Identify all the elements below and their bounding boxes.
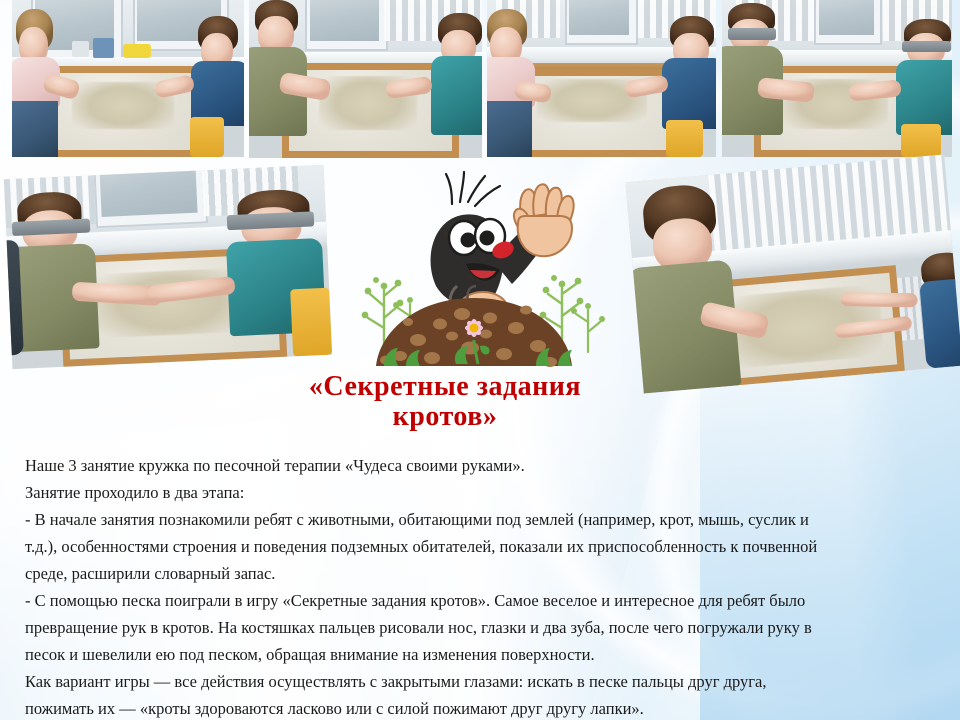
mole-icon bbox=[340, 168, 608, 373]
text-line-3: - В начале занятия познакомили ребят с ж… bbox=[25, 506, 945, 533]
slide-canvas: «Секретные задания кротов» Наше 3 заняти… bbox=[0, 0, 960, 720]
text-line-4: т.д.), особенностями строения и поведени… bbox=[25, 533, 945, 560]
body-text: Наше 3 занятие кружка по песочной терапи… bbox=[25, 452, 945, 720]
page-title-line-2: кротов» bbox=[280, 402, 610, 432]
mole-illustration bbox=[340, 168, 608, 373]
text-line-10: пожимать их — «кроты здороваются ласково… bbox=[25, 695, 945, 720]
photo-top-3 bbox=[487, 0, 716, 157]
text-line-2: Занятие проходило в два этапа: bbox=[25, 479, 945, 506]
text-line-1: Наше 3 занятие кружка по песочной терапи… bbox=[25, 452, 945, 479]
photo-top-4 bbox=[722, 0, 952, 157]
text-line-8: песок и шевелили ею под песком, обращая … bbox=[25, 641, 945, 668]
page-title-line-1: «Секретные задания bbox=[280, 372, 610, 402]
photo-top-2 bbox=[249, 0, 482, 158]
text-line-5: среде, расширили словарный запас. bbox=[25, 560, 945, 587]
text-line-6: - С помощью песка поиграли в игру «Секре… bbox=[25, 587, 945, 614]
photo-top-1 bbox=[12, 0, 244, 157]
text-line-7: превращение рук в кротов. На костяшках п… bbox=[25, 614, 945, 641]
photo-mid-left bbox=[4, 165, 332, 369]
text-line-9: Как вариант игры — все действия осуществ… bbox=[25, 668, 945, 695]
page-title: «Секретные задания кротов» bbox=[280, 372, 610, 432]
photo-mid-right bbox=[625, 154, 960, 393]
